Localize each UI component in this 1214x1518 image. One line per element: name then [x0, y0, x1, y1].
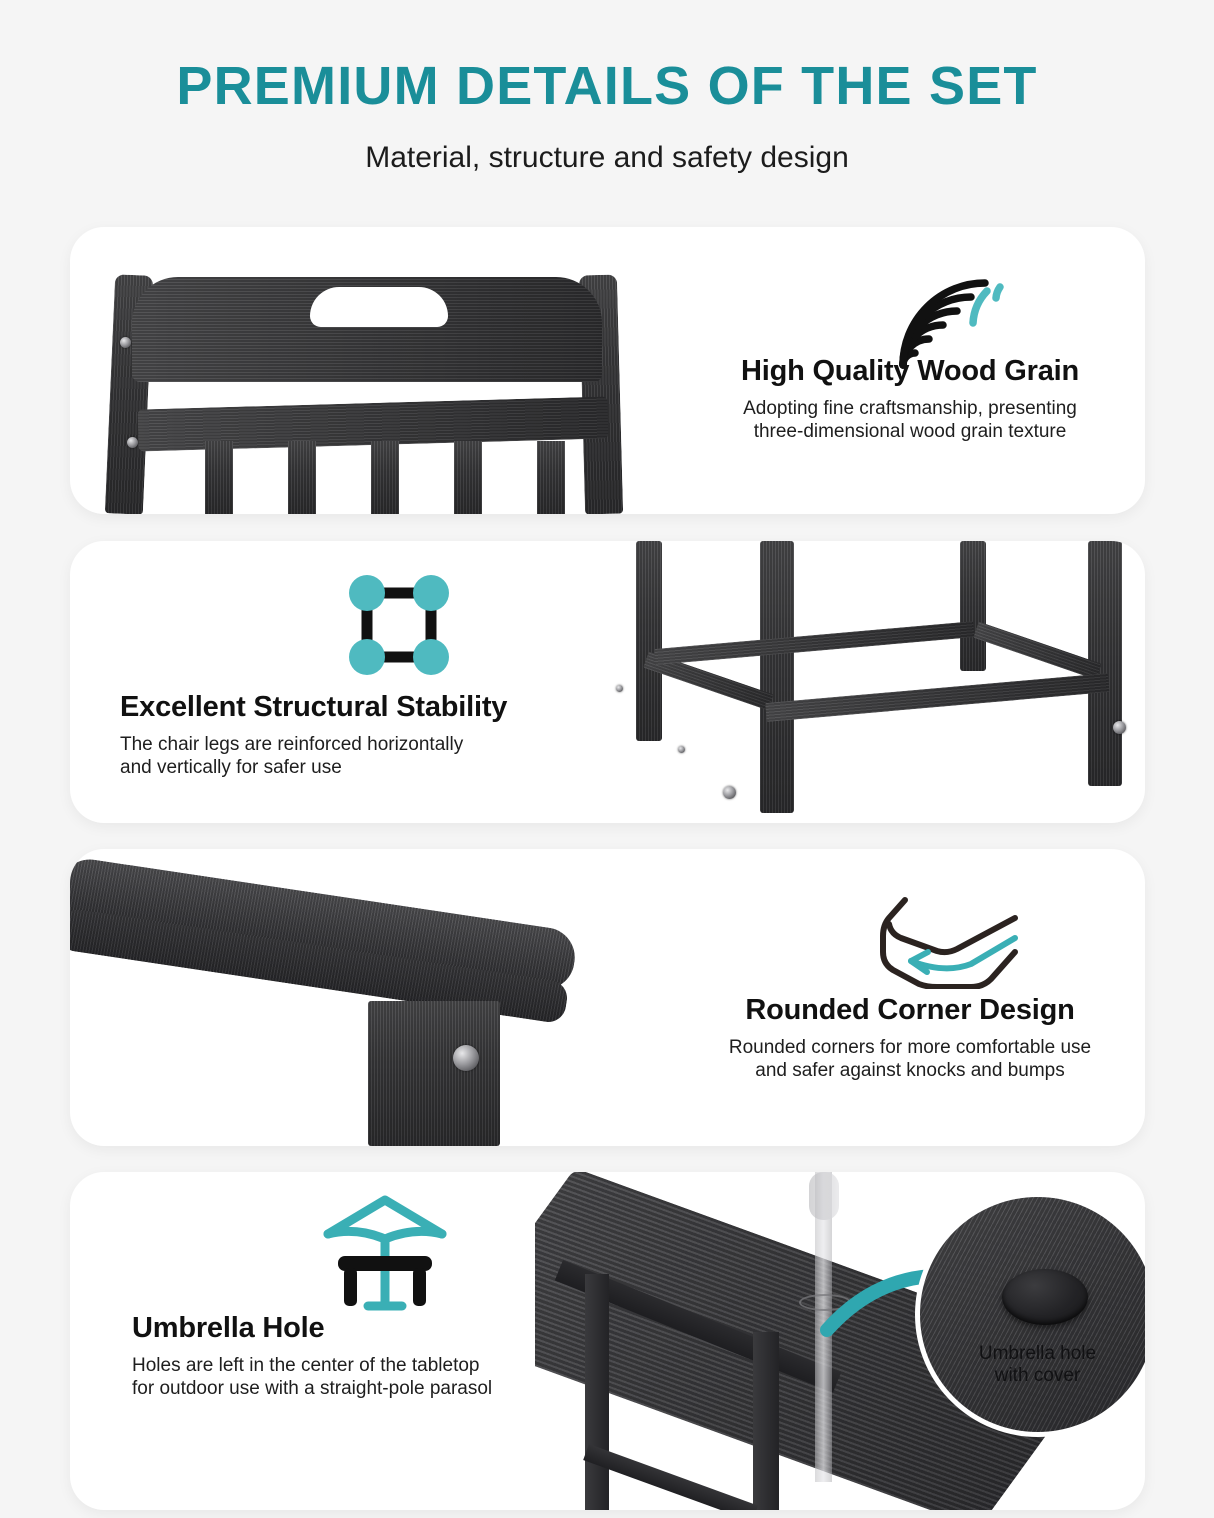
- side-brace: [973, 621, 1101, 679]
- umbrella-hole-cover: [1002, 1269, 1088, 1325]
- feature-description: Rounded corners for more comfortable use…: [685, 1036, 1135, 1082]
- table-leg: [585, 1274, 609, 1510]
- feature-card-wood-grain: High Quality Wood Grain Adopting fine cr…: [70, 227, 1145, 514]
- screw-icon: [616, 685, 623, 692]
- screw-icon: [127, 437, 138, 448]
- rear-cross-brace: [654, 621, 974, 665]
- front-cross-brace: [765, 673, 1109, 722]
- chair-slat: [454, 441, 482, 514]
- infographic-page: PREMIUM DETAILS OF THE SET Material, str…: [0, 0, 1214, 1518]
- screw-icon: [120, 337, 131, 348]
- screw-icon: [1113, 721, 1126, 734]
- feature-card-rounded-corner: Rounded Corner Design Rounded corners fo…: [70, 849, 1145, 1146]
- chair-slat: [537, 441, 565, 514]
- rounded-corner-arrow-icon: [875, 894, 1025, 994]
- page-subtitle: Material, structure and safety design: [0, 141, 1214, 175]
- square-frame-stability-icon: [345, 571, 453, 684]
- feature-title: Excellent Structural Stability: [120, 691, 590, 724]
- reinforced-legs-photo: [560, 541, 1145, 823]
- screw-icon: [678, 746, 685, 753]
- chair-handle-cutout: [310, 287, 448, 327]
- feature-title: Umbrella Hole: [132, 1312, 572, 1345]
- feature-description: Adopting fine craftsmanship, presenting …: [695, 397, 1125, 443]
- feature-description: The chair legs are reinforced horizontal…: [120, 733, 590, 779]
- leg-brace: [583, 1444, 758, 1510]
- feature-title: High Quality Wood Grain: [695, 355, 1125, 388]
- chair-slat: [205, 441, 233, 514]
- screw-icon: [723, 786, 736, 799]
- feature-text-wood-grain: High Quality Wood Grain Adopting fine cr…: [695, 355, 1125, 443]
- page-title: PREMIUM DETAILS OF THE SET: [0, 58, 1214, 115]
- feature-card-structural-stability: Excellent Structural Stability The chair…: [70, 541, 1145, 823]
- callout-label: Umbrella hole with cover: [920, 1343, 1145, 1387]
- feature-text-structural-stability: Excellent Structural Stability The chair…: [120, 691, 590, 779]
- chair-backrest-photo: [70, 227, 695, 514]
- feature-title: Rounded Corner Design: [685, 994, 1135, 1027]
- umbrella-hole-callout: Umbrella hole with cover: [915, 1192, 1145, 1437]
- table-leg: [368, 1001, 500, 1146]
- rounded-edge-tabletop-photo: [70, 849, 680, 1146]
- feature-text-umbrella-hole: Umbrella Hole Holes are left in the cent…: [132, 1312, 572, 1400]
- table-leg: [760, 541, 794, 813]
- chair-slat: [371, 441, 399, 514]
- table-leg: [636, 541, 662, 741]
- umbrella-crank: [809, 1172, 839, 1220]
- header: PREMIUM DETAILS OF THE SET Material, str…: [0, 0, 1214, 175]
- parasol-table-icon: [320, 1194, 450, 1317]
- feature-card-umbrella-hole: Umbrella hole with cover: [70, 1172, 1145, 1510]
- chair-slat: [288, 441, 316, 514]
- table-leg: [960, 541, 986, 671]
- table-leg: [753, 1332, 779, 1510]
- feature-text-rounded-corner: Rounded Corner Design Rounded corners fo…: [685, 994, 1135, 1082]
- feature-description: Holes are left in the center of the tabl…: [132, 1354, 572, 1400]
- screw-icon: [453, 1045, 479, 1071]
